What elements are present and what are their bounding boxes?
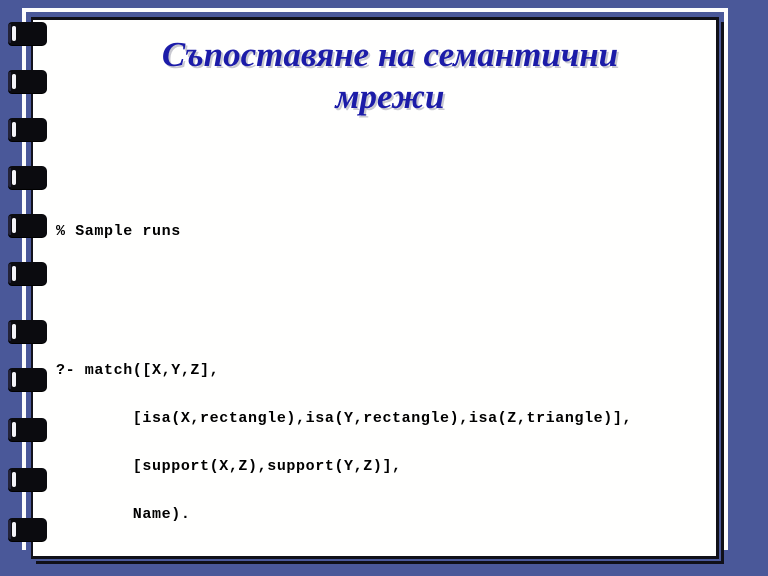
code-query-1-line-1: ?- match([X,Y,Z], [56,363,746,379]
slide-title-line-2: мрежи [336,77,445,116]
code-comment-line: % Sample runs [56,224,746,240]
code-spacer [56,288,746,315]
code-query-1-line-2: [isa(X,rectangle),isa(Y,rectangle),isa(Z… [56,411,746,427]
spiral-ring-icon [8,320,47,343]
spiral-ring-icon [8,22,47,45]
slide-title-line-1: Съпоставяне на семантични [162,35,618,74]
code-query-1-line-3: [support(X,Z),support(Y,Z)], [56,459,746,475]
spiral-ring-icon [8,418,47,441]
spiral-ring-icon [8,468,47,491]
spiral-ring-icon [8,214,47,237]
code-spacer [56,571,746,576]
code-query-1-line-4: Name). [56,507,746,523]
spiral-ring-icon [8,368,47,391]
spiral-ring-icon [8,70,47,93]
spiral-ring-icon [8,118,47,141]
spiral-ring-icon [8,518,47,541]
slide-title: Съпоставяне на семантични мрежи [60,34,720,118]
spiral-ring-icon [8,262,47,285]
slide: Съпоставяне на семантични мрежи % Sample… [0,0,768,576]
slide-body-code: % Sample runs ?- match([X,Y,Z], [isa(X,r… [56,176,746,576]
spiral-ring-icon [8,166,47,189]
